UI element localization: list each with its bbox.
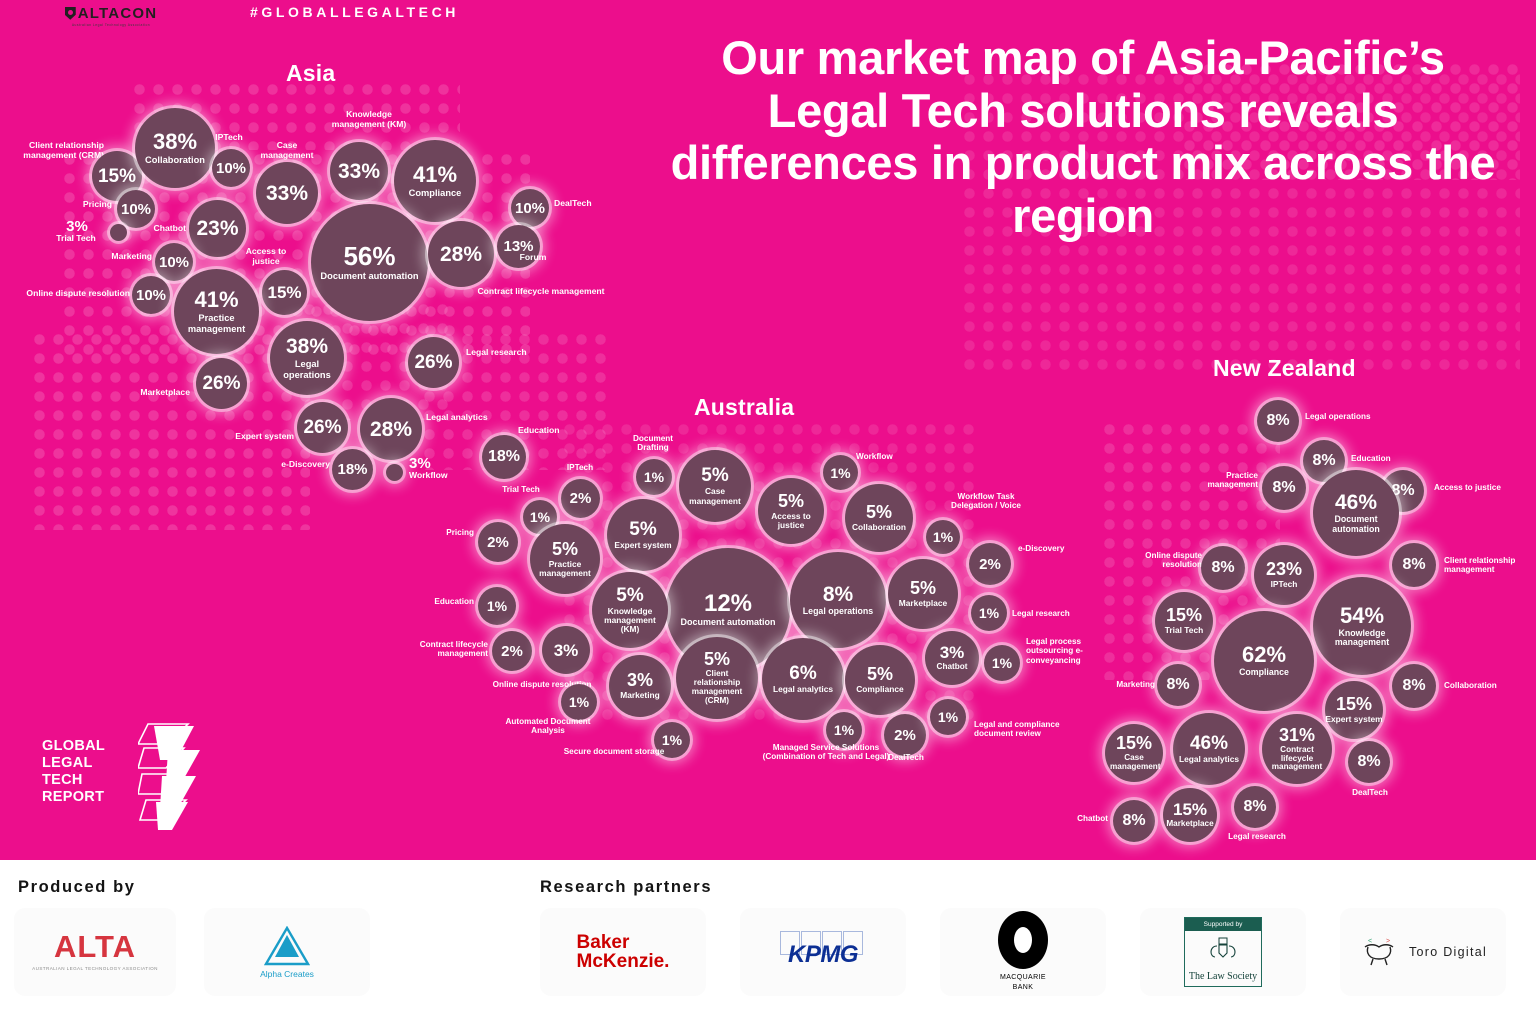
produced-by-heading: Produced by bbox=[18, 878, 136, 897]
label-asia-trial-tech: Trial Tech bbox=[46, 234, 106, 244]
kpmg-wordmark: KPMG bbox=[780, 941, 866, 969]
bubble-asia-access-to-justice[interactable]: 15% bbox=[262, 270, 307, 315]
bubble-asia-legal-analytics[interactable]: 28% bbox=[360, 398, 422, 460]
label-au-legal-compliance-document-review: Legal and compliance document review bbox=[974, 720, 1076, 739]
law-society-wordmark: The Law Society bbox=[1189, 971, 1257, 986]
bubble-nz-legal-operations[interactable]: 8% bbox=[1257, 400, 1299, 442]
hashtag: #GLOBALLEGALTECH bbox=[250, 4, 459, 20]
label-au-trial-tech: Trial Tech bbox=[494, 485, 548, 494]
bubble-nz-legal-research[interactable]: 8% bbox=[1234, 786, 1276, 828]
label-nz-dealtech: DealTech bbox=[1344, 788, 1396, 797]
bubble-asia-expert-system[interactable]: 26% bbox=[297, 402, 348, 453]
toro-digital-wordmark: Toro Digital bbox=[1409, 945, 1487, 959]
bubble-asia-compliance[interactable]: 41% Compliance bbox=[394, 140, 476, 222]
label-asia-km: Knowledge management (KM) bbox=[324, 110, 414, 130]
bubble-asia-ediscovery[interactable]: 18% bbox=[332, 449, 373, 490]
bubble-au-marketplace[interactable]: 5% Marketplace bbox=[888, 559, 958, 629]
bubble-au-legal-research[interactable]: 1% bbox=[971, 595, 1007, 631]
label-au-clm: Contract lifecycle management bbox=[404, 640, 488, 659]
label-asia-access-to-justice: Access to justice bbox=[238, 247, 294, 267]
bubble-nz-dealtech[interactable]: 8% bbox=[1348, 741, 1390, 783]
bubble-asia-workflow[interactable] bbox=[386, 464, 403, 481]
bubble-au-expert-system[interactable]: 5% Expert system bbox=[607, 499, 679, 571]
logo-card-toro-digital[interactable]: < > Toro Digital bbox=[1340, 908, 1506, 996]
bubble-au-workflow[interactable]: 1% bbox=[823, 455, 858, 490]
bubble-nz-km[interactable]: 54% Knowledge management bbox=[1313, 577, 1411, 675]
macquarie-wordmark: MACQUARIE BANK bbox=[1000, 973, 1046, 993]
bubble-asia-practice-management[interactable]: 41% Practice management bbox=[174, 269, 259, 354]
bubble-asia-education[interactable]: 18% bbox=[482, 435, 526, 479]
bubble-asia-iptech[interactable]: 10% bbox=[212, 149, 250, 187]
label-asia-odr: Online dispute resolution bbox=[14, 289, 130, 299]
infographic-page: ALTACON Australian Legal Technology Asso… bbox=[0, 0, 1536, 1023]
label-nz-practice-management: Practice management bbox=[1186, 471, 1258, 490]
bubble-nz-case-management[interactable]: 15% Case management bbox=[1105, 724, 1163, 782]
bubble-au-clm[interactable]: 2% bbox=[492, 631, 532, 671]
bubble-nz-clm[interactable]: 31% Contract lifecycle management bbox=[1262, 714, 1332, 784]
label-asia-dealtech: DealTech bbox=[554, 199, 614, 209]
label-asia-workflow: Workflow bbox=[409, 471, 459, 481]
label-au-document-drafting: Document Drafting bbox=[622, 434, 684, 453]
bubble-asia-legal-research[interactable]: 26% bbox=[408, 337, 459, 388]
region-title-newzealand: New Zealand bbox=[1213, 355, 1356, 382]
baker-mckenzie-wordmark: Baker McKenzie. bbox=[577, 933, 670, 972]
bubble-au-iptech[interactable]: 2% bbox=[561, 479, 600, 518]
label-nz-legal-research: Legal research bbox=[1226, 832, 1288, 841]
label-asia-expert-system: Expert system bbox=[216, 432, 294, 442]
bubble-au-compliance[interactable]: 5% Compliance bbox=[845, 645, 915, 715]
bubble-au-marketing[interactable]: 3% Marketing bbox=[609, 655, 671, 717]
bubble-asia-pricing[interactable]: 10% bbox=[117, 190, 155, 228]
bubble-au-education[interactable]: 1% bbox=[478, 587, 516, 625]
map-canvas: ALTACON Australian Legal Technology Asso… bbox=[0, 0, 1536, 860]
bubble-au-ediscovery[interactable]: 2% bbox=[969, 543, 1011, 585]
alta-wordmark: ALTA bbox=[54, 931, 136, 962]
svg-text:<: < bbox=[1368, 938, 1372, 945]
logo-card-law-society[interactable]: Supported by The Law Society bbox=[1140, 908, 1306, 996]
bubble-nz-legal-analytics[interactable]: 46% Legal analytics bbox=[1173, 713, 1245, 785]
bubble-nz-iptech[interactable]: 23% IPTech bbox=[1254, 545, 1314, 605]
bubble-asia-km[interactable]: 33% bbox=[330, 142, 388, 200]
label-nz-marketing: Marketing bbox=[1095, 680, 1155, 689]
bubble-au-km[interactable]: 5% Knowledge management (KM) bbox=[592, 572, 668, 648]
label-au-iptech: IPTech bbox=[558, 463, 602, 472]
bubble-asia-collaboration[interactable]: 38% Collaboration bbox=[135, 108, 215, 188]
bubble-nz-crm[interactable]: 8% bbox=[1392, 543, 1436, 587]
bubble-asia-odr[interactable]: 10% bbox=[132, 276, 170, 314]
logo-card-alta[interactable]: ALTA AUSTRALIAN LEGAL TECHNOLOGY ASSOCIA… bbox=[14, 908, 176, 996]
toro-bull-icon: < > bbox=[1359, 935, 1401, 969]
label-au-lpo-econveyancing: Legal process outsourcing e-conveyancing bbox=[1026, 637, 1104, 665]
label-asia-chatbot: Chatbot bbox=[130, 224, 186, 234]
logo-card-alpha-creates[interactable]: Alpha Creates bbox=[204, 908, 370, 996]
macquarie-ring-icon bbox=[998, 911, 1048, 969]
label-asia-legal-analytics: Legal analytics bbox=[426, 413, 504, 423]
bubble-au-chatbot[interactable]: 3% Chatbot bbox=[925, 631, 979, 685]
bubble-au-legal-analytics[interactable]: 6% Legal analytics bbox=[762, 638, 844, 720]
label-asia-education: Education bbox=[518, 426, 578, 436]
alta-subtitle: AUSTRALIAN LEGAL TECHNOLOGY ASSOCIATION bbox=[32, 966, 158, 973]
bubble-nz-expert-system[interactable]: 15% Expert system bbox=[1325, 681, 1383, 739]
alpha-creates-triangle-icon bbox=[264, 926, 310, 966]
label-au-automated-document-analysis: Automated Document Analysis bbox=[490, 717, 606, 736]
bubble-nz-document-automation[interactable]: 46% Document automation bbox=[1313, 470, 1399, 556]
footer: Produced by Research partners ALTA AUSTR… bbox=[0, 860, 1536, 1023]
label-asia-crm: Client relationship management (CRM) bbox=[0, 141, 104, 161]
label-nz-collaboration: Collaboration bbox=[1444, 681, 1518, 690]
label-asia-iptech: IPTech bbox=[206, 133, 252, 143]
bubble-au-legal-operations[interactable]: 8% Legal operations bbox=[790, 552, 886, 648]
label-au-dealtech: DealTech bbox=[882, 753, 930, 762]
altacon-shield-icon bbox=[65, 7, 76, 20]
bubble-au-odr[interactable]: 3% bbox=[542, 626, 590, 674]
label-au-workflow-task-delegation: Workflow Task Delegation / Voice bbox=[944, 492, 1028, 511]
bubble-asia-trial-tech[interactable] bbox=[110, 224, 127, 241]
label-nz-chatbot: Chatbot bbox=[1060, 814, 1108, 823]
label-nz-access-to-justice: Access to justice bbox=[1434, 483, 1510, 492]
bubble-au-access-to-justice[interactable]: 5% Access to justice bbox=[758, 478, 824, 544]
label-asia-pricing: Pricing bbox=[40, 200, 112, 210]
logo-card-baker-mckenzie[interactable]: Baker McKenzie. bbox=[540, 908, 706, 996]
altacon-wordmark: ALTACON bbox=[78, 5, 158, 22]
bubble-au-legal-compliance-document-review[interactable]: 1% bbox=[930, 699, 966, 735]
logo-card-kpmg[interactable]: KPMG bbox=[740, 908, 906, 996]
kpmg-logo: KPMG bbox=[780, 931, 866, 973]
bubble-asia-marketing[interactable]: 10% bbox=[155, 243, 193, 281]
law-society-supported-by: Supported by bbox=[1185, 918, 1261, 931]
bubble-au-case-management[interactable]: 5% Case management bbox=[679, 450, 751, 522]
label-au-managed-service-solutions: Managed Service Solutions (Combination o… bbox=[760, 743, 892, 762]
bubble-au-practice-management[interactable]: 5% Practice management bbox=[530, 524, 600, 594]
bubble-au-collaboration[interactable]: 5% Collaboration bbox=[845, 484, 913, 552]
label-asia-marketplace: Marketplace bbox=[118, 388, 190, 398]
label-asia-forum: Forum bbox=[504, 253, 562, 263]
global-legal-tech-report-logo: GLOBAL LEGAL TECH REPORT bbox=[42, 728, 202, 828]
altacon-logo: ALTACON Australian Legal Technology Asso… bbox=[48, 3, 174, 29]
gltr-text: GLOBAL LEGAL TECH REPORT bbox=[42, 738, 134, 806]
bubble-au-dealtech[interactable]: 2% bbox=[884, 714, 926, 756]
alpha-creates-wordmark: Alpha Creates bbox=[260, 969, 314, 979]
label-au-ediscovery: e-Discovery bbox=[1018, 544, 1080, 553]
research-partners-heading: Research partners bbox=[540, 878, 712, 897]
label-au-secure-document-storage: Secure document storage bbox=[562, 747, 666, 756]
label-nz-odr: Online dispute resolution bbox=[1124, 551, 1202, 570]
label-asia-legal-research: Legal research bbox=[466, 348, 552, 358]
bubble-asia-document-automation[interactable]: 56% Document automation bbox=[311, 204, 428, 321]
region-title-asia: Asia bbox=[286, 60, 335, 87]
bubble-asia-dealtech[interactable]: 10% bbox=[511, 189, 549, 227]
gltr-chevron-mark bbox=[138, 720, 204, 832]
label-au-workflow: Workflow bbox=[856, 452, 908, 461]
bubble-nz-practice-management[interactable]: 8% bbox=[1262, 466, 1306, 510]
label-asia-marketing: Marketing bbox=[82, 252, 152, 262]
label-au-education: Education bbox=[420, 597, 474, 606]
label-asia-clm: Contract lifecycle management bbox=[466, 287, 616, 297]
bubble-asia-marketplace[interactable]: 26% bbox=[196, 358, 247, 409]
bubble-au-crm[interactable]: 5% Client relationship management (CRM) bbox=[676, 637, 758, 719]
bubble-nz-trial-tech[interactable]: 15% Trial Tech bbox=[1155, 592, 1213, 650]
svg-text:>: > bbox=[1386, 938, 1390, 945]
region-title-australia: Australia bbox=[694, 394, 794, 421]
bubble-au-document-drafting[interactable]: 1% bbox=[636, 459, 672, 495]
label-asia-ediscovery: e-Discovery bbox=[256, 460, 330, 470]
bubble-nz-compliance[interactable]: 62% Compliance bbox=[1214, 611, 1314, 711]
bubble-nz-collaboration[interactable]: 8% bbox=[1392, 664, 1436, 708]
label-au-pricing: Pricing bbox=[424, 528, 474, 537]
value-asia-trial-tech: 3% bbox=[60, 218, 94, 235]
bubble-asia-case-management[interactable]: 33% bbox=[256, 162, 318, 224]
label-nz-legal-operations: Legal operations bbox=[1305, 412, 1377, 421]
label-au-legal-research: Legal research bbox=[1012, 609, 1078, 618]
altacon-subtitle: Australian Legal Technology Association bbox=[72, 23, 150, 27]
bubble-au-workflow-task-delegation[interactable]: 1% bbox=[926, 520, 960, 554]
logo-card-macquarie-bank[interactable]: MACQUARIE BANK bbox=[940, 908, 1106, 996]
bubble-nz-marketplace[interactable]: 15% Marketplace bbox=[1163, 788, 1217, 842]
bubble-nz-odr[interactable]: 8% bbox=[1201, 546, 1245, 590]
label-asia-case-management: Case management bbox=[252, 141, 322, 161]
bubble-nz-chatbot[interactable]: 8% bbox=[1113, 800, 1155, 842]
law-society-logo: Supported by The Law Society bbox=[1184, 917, 1262, 987]
bubble-au-automated-document-analysis[interactable]: 1% bbox=[561, 684, 597, 720]
label-nz-education: Education bbox=[1351, 454, 1407, 463]
law-society-crest-icon bbox=[1206, 931, 1240, 971]
bubble-asia-clm[interactable]: 28% bbox=[428, 221, 494, 287]
label-nz-crm: Client relationship management bbox=[1444, 556, 1528, 575]
bubble-au-lpo-econveyancing[interactable]: 1% bbox=[984, 645, 1020, 681]
bubble-asia-legal-operations[interactable]: 38% Legal operations bbox=[270, 321, 344, 395]
map-dots-africa bbox=[30, 330, 310, 530]
page-title: Our market map of Asia-Pacific’s Legal T… bbox=[668, 32, 1498, 243]
bubble-nz-marketing[interactable]: 8% bbox=[1157, 664, 1199, 706]
bubble-au-pricing[interactable]: 2% bbox=[478, 522, 518, 562]
